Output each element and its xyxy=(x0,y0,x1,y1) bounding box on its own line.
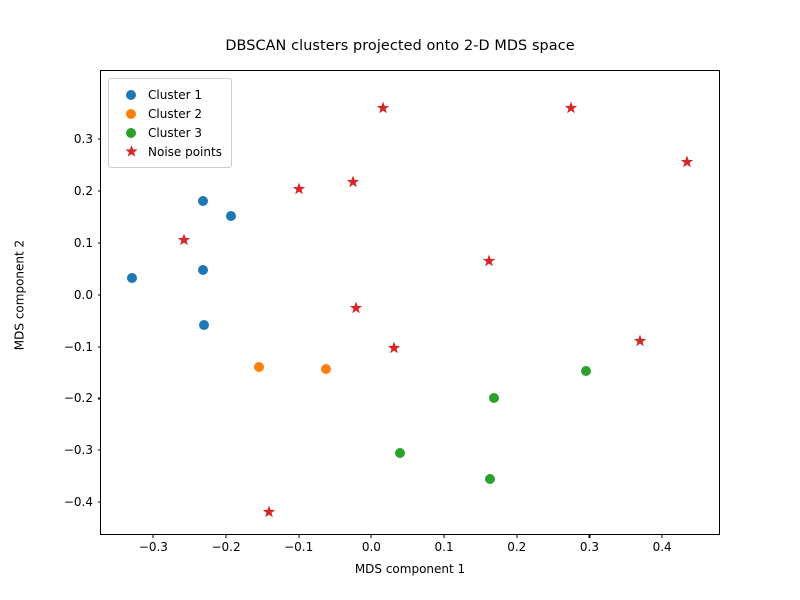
data-point-noise-points xyxy=(262,506,275,519)
figure-canvas: DBSCAN clusters projected onto 2-D MDS s… xyxy=(0,0,800,600)
x-tick-label: 0.4 xyxy=(653,540,672,554)
data-point-cluster-1 xyxy=(127,273,137,283)
data-point-noise-points xyxy=(483,254,496,267)
x-tick-mark xyxy=(153,534,154,538)
star-marker-icon xyxy=(116,145,146,158)
x-tick-mark xyxy=(226,534,227,538)
legend-label: Cluster 1 xyxy=(146,88,202,102)
x-tick-label: 0.3 xyxy=(580,540,599,554)
x-tick-label: −0.3 xyxy=(139,540,168,554)
x-tick-mark xyxy=(444,534,445,538)
y-tick-label: 0.0 xyxy=(74,288,93,302)
legend-label: Cluster 3 xyxy=(146,126,202,140)
y-tick-label: 0.3 xyxy=(74,132,93,146)
data-point-cluster-1 xyxy=(198,196,208,206)
data-point-cluster-3 xyxy=(581,366,591,376)
data-point-noise-points xyxy=(680,155,693,168)
legend-item-cluster-1[interactable]: Cluster 1 xyxy=(116,85,222,104)
data-point-cluster-3 xyxy=(485,474,495,484)
legend-item-noise-points[interactable]: Noise points xyxy=(116,142,222,161)
data-point-noise-points xyxy=(565,101,578,114)
x-tick-mark xyxy=(371,534,372,538)
data-point-noise-points xyxy=(350,302,363,315)
y-tick-label: −0.1 xyxy=(64,340,93,354)
y-tick-mark xyxy=(98,294,102,295)
data-point-noise-points xyxy=(377,101,390,114)
data-point-cluster-1 xyxy=(226,211,236,221)
legend: Cluster 1Cluster 2Cluster 3Noise points xyxy=(108,78,232,168)
x-tick-label: −0.2 xyxy=(211,540,240,554)
legend-label: Cluster 2 xyxy=(146,107,202,121)
data-point-cluster-2 xyxy=(254,362,264,372)
chart-title: DBSCAN clusters projected onto 2-D MDS s… xyxy=(0,38,800,54)
y-tick-mark xyxy=(98,138,102,139)
y-tick-label: −0.2 xyxy=(64,391,93,405)
x-tick-label: 0.2 xyxy=(507,540,526,554)
x-tick-label: −0.1 xyxy=(284,540,313,554)
y-tick-label: −0.4 xyxy=(64,495,93,509)
x-tick-mark xyxy=(589,534,590,538)
y-tick-mark xyxy=(98,242,102,243)
x-tick-mark xyxy=(298,534,299,538)
y-tick-mark xyxy=(98,346,102,347)
data-point-cluster-1 xyxy=(199,320,209,330)
y-tick-mark xyxy=(98,190,102,191)
y-tick-label: −0.3 xyxy=(64,443,93,457)
data-point-noise-points xyxy=(292,182,305,195)
data-point-cluster-1 xyxy=(198,265,208,275)
circle-marker-icon xyxy=(116,90,146,100)
y-tick-mark xyxy=(98,502,102,503)
y-tick-mark xyxy=(98,398,102,399)
data-point-cluster-2 xyxy=(321,364,331,374)
x-tick-label: 0.1 xyxy=(435,540,454,554)
y-axis-label: MDS component 2 xyxy=(13,63,27,528)
y-tick-label: 0.2 xyxy=(74,184,93,198)
data-point-noise-points xyxy=(387,342,400,355)
data-point-noise-points xyxy=(347,176,360,189)
x-axis-label: MDS component 1 xyxy=(100,562,720,576)
x-tick-mark xyxy=(662,534,663,538)
data-point-cluster-3 xyxy=(489,393,499,403)
data-point-noise-points xyxy=(177,234,190,247)
y-tick-label: 0.1 xyxy=(74,236,93,250)
legend-item-cluster-3[interactable]: Cluster 3 xyxy=(116,123,222,142)
y-tick-mark xyxy=(98,450,102,451)
circle-marker-icon xyxy=(116,128,146,138)
legend-item-cluster-2[interactable]: Cluster 2 xyxy=(116,104,222,123)
circle-marker-icon xyxy=(116,109,146,119)
legend-label: Noise points xyxy=(146,145,222,159)
x-tick-label: 0.0 xyxy=(362,540,381,554)
x-tick-mark xyxy=(516,534,517,538)
data-point-cluster-3 xyxy=(395,448,405,458)
data-point-noise-points xyxy=(633,334,646,347)
